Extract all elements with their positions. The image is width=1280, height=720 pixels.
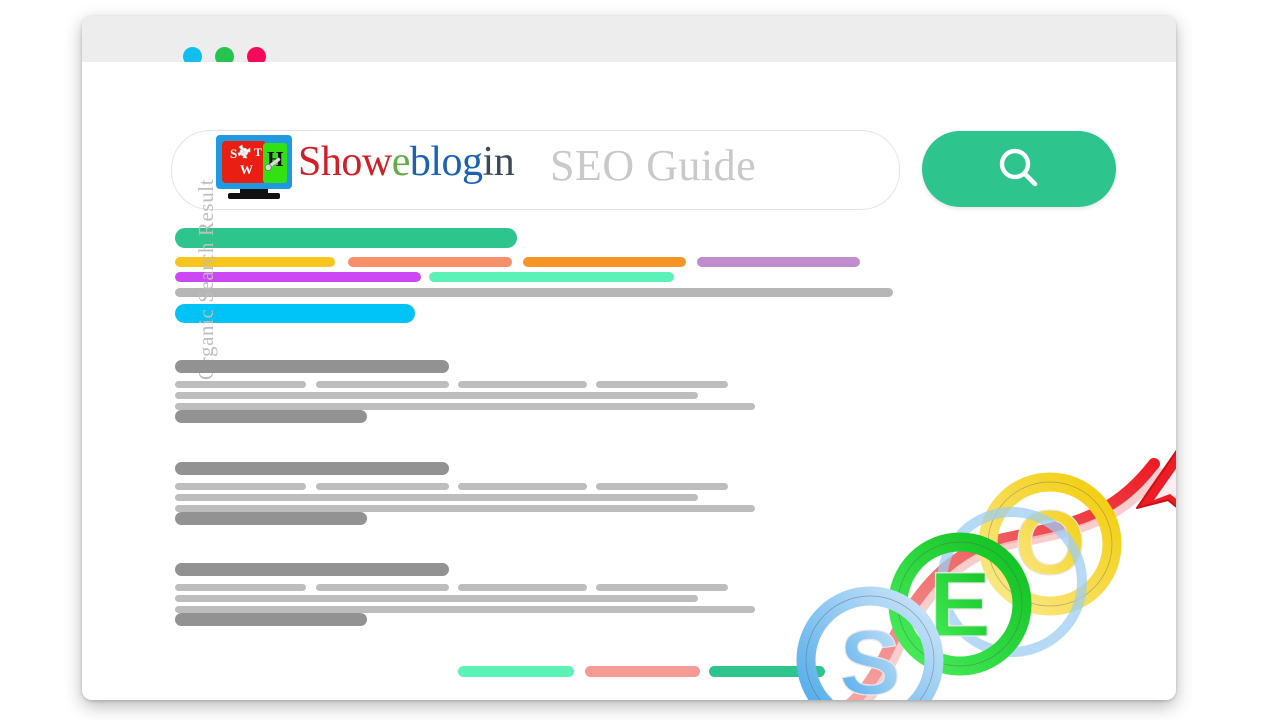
bar-mint: [429, 272, 674, 282]
result-text-line: [316, 584, 449, 591]
bar-orange: [523, 257, 686, 267]
bar-footer-salmon: [585, 666, 700, 677]
result-text-line: [175, 595, 698, 602]
result-footer-bar[interactable]: [175, 613, 367, 626]
search-query-text[interactable]: SEO Guide: [550, 140, 756, 191]
result-text-line: [175, 392, 698, 399]
brand-wordmark: Showeblogin: [298, 141, 514, 183]
result-text-line: [596, 381, 728, 388]
svg-text:W: W: [240, 162, 253, 177]
bar-salmon: [348, 257, 512, 267]
result-text-line: [175, 381, 306, 388]
bar-footer-mint: [458, 666, 574, 677]
brand-part-3: blog: [410, 139, 483, 185]
result-title-bar[interactable]: [175, 360, 449, 373]
result-text-line: [316, 381, 449, 388]
brand-part-1: Show: [298, 139, 392, 185]
result-text-line: [175, 606, 755, 613]
svg-text:S: S: [839, 612, 900, 700]
result-text-line: [175, 403, 755, 410]
search-button[interactable]: [922, 131, 1116, 207]
result-text-line: [175, 584, 306, 591]
result-title-bar[interactable]: [175, 462, 449, 475]
result-title-bar[interactable]: [175, 563, 449, 576]
result-text-line: [596, 584, 728, 591]
seo-growth-graphic: O E S: [782, 422, 1176, 700]
bar-lavender: [697, 257, 860, 267]
result-text-line: [316, 483, 449, 490]
svg-text:S: S: [230, 146, 237, 161]
brand-part-2: e: [392, 139, 410, 185]
result-text-line: [596, 483, 728, 490]
bar-headline-green: [175, 228, 517, 248]
brand-part-4: in: [483, 139, 515, 185]
result-text-line: [458, 483, 587, 490]
result-text-line: [175, 494, 698, 501]
svg-text:T: T: [254, 145, 262, 159]
result-footer-bar[interactable]: [175, 512, 367, 525]
result-text-line: [175, 483, 306, 490]
result-footer-bar[interactable]: [175, 410, 367, 423]
browser-viewport: S T W H: [82, 62, 1176, 700]
result-text-line: [458, 584, 587, 591]
showeblogin-tv-logo-icon: S T W H: [214, 133, 294, 205]
result-text-line: [458, 381, 587, 388]
screenshot-root: S T W H: [0, 0, 1280, 720]
bar-gray-wide: [175, 288, 893, 297]
search-icon: [992, 142, 1046, 196]
organic-section-label: Organic Search Result: [194, 179, 219, 380]
browser-window: S T W H: [82, 16, 1176, 700]
result-text-line: [175, 505, 755, 512]
